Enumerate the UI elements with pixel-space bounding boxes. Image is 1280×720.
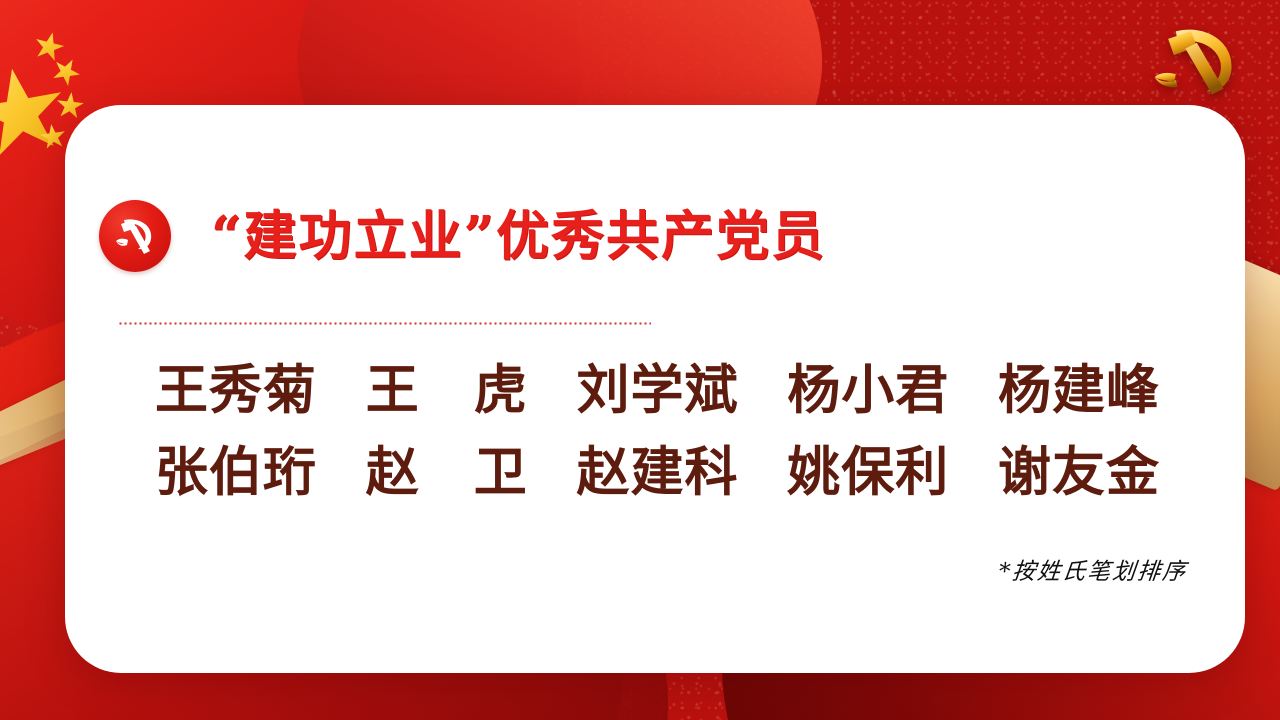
flag-star-small-1-icon <box>31 29 67 65</box>
flag-star-small-3-icon <box>55 91 86 122</box>
honoree-name: 刘学斌 <box>577 357 739 425</box>
honoree-name: 谢友金 <box>998 439 1160 507</box>
honoree-name: 赵建科 <box>577 439 739 507</box>
page-title: “建功立业”优秀共产党员 <box>211 210 826 263</box>
title-divider <box>118 322 651 325</box>
slide-canvas: “建功立业”优秀共产党员 王秀菊 王 虎 刘学斌 杨小君 杨建峰 张伯珩 赵 卫… <box>0 0 1280 720</box>
honoree-name: 杨建峰 <box>998 357 1160 425</box>
honoree-name: 赵 卫 <box>366 439 528 507</box>
party-hammer-sickle-icon <box>99 200 171 272</box>
honoree-name: 杨小君 <box>787 357 949 425</box>
honoree-name: 张伯珩 <box>155 439 317 507</box>
honoree-row: 张伯珩 赵 卫 赵建科 姚保利 谢友金 <box>105 439 1205 507</box>
honoree-name: 姚保利 <box>787 439 949 507</box>
honoree-name: 王 虎 <box>366 357 528 425</box>
party-hammer-sickle-gold-icon <box>1134 16 1252 102</box>
flag-star-small-2-icon <box>47 53 85 91</box>
title-row: “建功立业”优秀共产党员 <box>99 200 826 272</box>
content-card: “建功立业”优秀共产党员 王秀菊 王 虎 刘学斌 杨小君 杨建峰 张伯珩 赵 卫… <box>65 105 1245 673</box>
honoree-name-grid: 王秀菊 王 虎 刘学斌 杨小君 杨建峰 张伯珩 赵 卫 赵建科 姚保利 谢友金 <box>105 357 1205 521</box>
honoree-row: 王秀菊 王 虎 刘学斌 杨小君 杨建峰 <box>105 357 1205 425</box>
honoree-name: 王秀菊 <box>155 357 317 425</box>
sort-order-footnote: *按姓氏笔划排序 <box>997 552 1189 586</box>
